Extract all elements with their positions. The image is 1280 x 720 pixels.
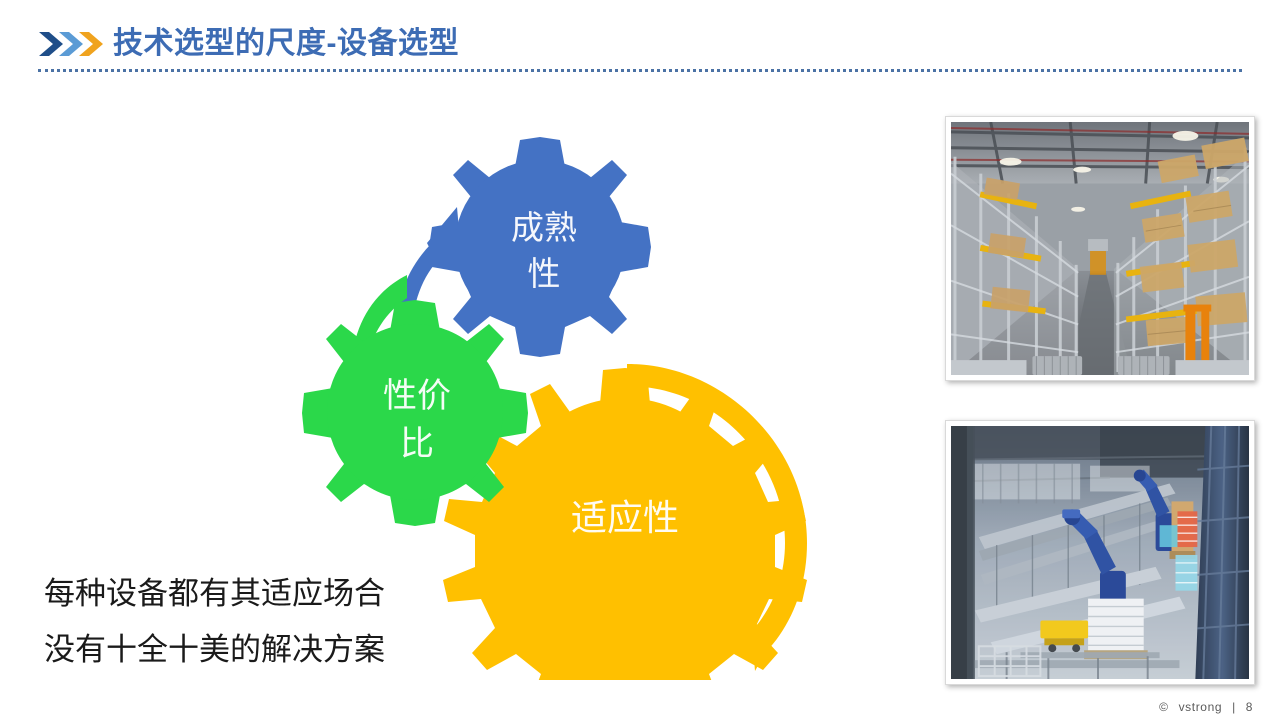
gear-maturity-label-line1: 成熟 <box>511 210 577 247</box>
gear-cost-performance-label-line1: 性价 <box>383 377 451 415</box>
chevron-1-icon <box>39 32 63 56</box>
gear-cost-performance-label-line2: 比 <box>400 426 434 463</box>
photo-automation-image <box>951 426 1249 679</box>
photo-warehouse-image <box>951 122 1249 375</box>
slide-header: 技术选型的尺度-设备选型 <box>0 0 1280 86</box>
gear-maturity-label-line2: 性 <box>528 256 561 293</box>
gear-cost-performance: 性价 比 <box>302 300 528 526</box>
footer-owner: vstrong <box>1179 700 1223 714</box>
gear-maturity: 成熟 性 <box>429 137 651 357</box>
caption-line-2: 没有十全十美的解决方案 <box>44 622 464 678</box>
photo-automation-frame <box>945 420 1255 685</box>
footer-page-number: 8 <box>1246 700 1253 714</box>
gear-adaptability-label: 适应性 <box>571 498 679 538</box>
caption-block: 每种设备都有其适应场合 没有十全十美的解决方案 <box>44 566 464 678</box>
copyright-symbol: © <box>1159 700 1168 714</box>
title-divider <box>38 69 1242 72</box>
photo-warehouse-frame <box>945 116 1255 381</box>
footer-separator: | <box>1232 700 1236 714</box>
caption-line-1: 每种设备都有其适应场合 <box>44 566 464 622</box>
footer-credit: © vstrong | 8 <box>1156 700 1256 714</box>
chevron-group-icon <box>38 29 104 59</box>
page-title: 技术选型的尺度-设备选型 <box>113 24 459 64</box>
